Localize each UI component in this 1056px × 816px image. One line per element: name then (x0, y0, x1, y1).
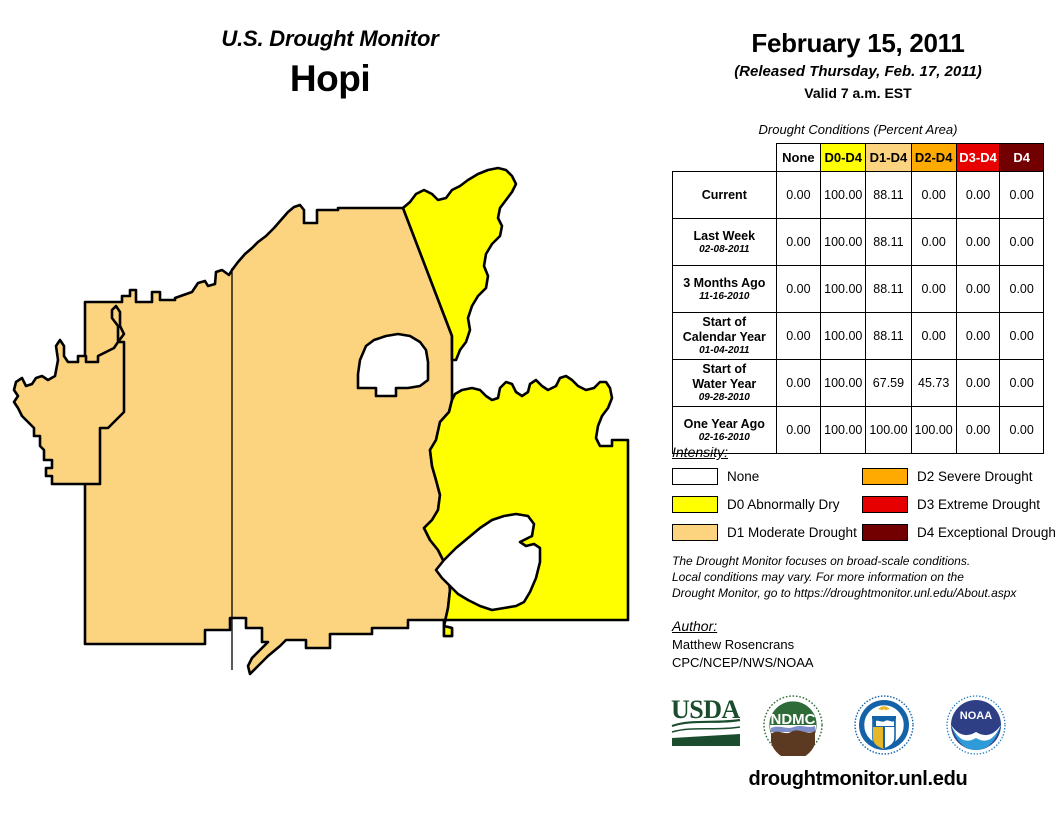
table-cell-value: 100.00 (821, 266, 866, 313)
table-cell-value: 0.00 (1000, 219, 1044, 266)
column-header-d1-d4: D1-D4 (866, 144, 911, 172)
table-cell-value: 0.00 (911, 266, 956, 313)
legend-swatch-d2 (862, 468, 908, 485)
table-cell-value: 0.00 (1000, 266, 1044, 313)
legend-grid: None D0 Abnormally Dry D1 Moderate Droug… (672, 466, 1052, 550)
drought-map[interactable] (0, 150, 660, 750)
author-block: Author: Matthew Rosencrans CPC/NCEP/NWS/… (672, 618, 1052, 670)
map-title-block: U.S. Drought Monitor Hopi (0, 26, 660, 100)
map-panel: U.S. Drought Monitor Hopi (0, 0, 660, 816)
table-row: Start ofWater Year09-28-20100.00100.0067… (673, 360, 1044, 407)
logo-row: USDA NDMC (660, 694, 1056, 760)
area-title: Hopi (0, 58, 660, 100)
legend-label-d4: D4 Exceptional Drought (917, 525, 1056, 540)
table-cell-value: 100.00 (821, 313, 866, 360)
table-head: None D0-D4 D1-D4 D2-D4 D3-D4 D4 (673, 144, 1044, 172)
table-cell-value: 0.00 (956, 360, 1000, 407)
table-cell-value: 0.00 (776, 313, 821, 360)
table-row: Last Week02-08-20110.00100.0088.110.000.… (673, 219, 1044, 266)
table-cell-value: 0.00 (1000, 313, 1044, 360)
column-header-d3-d4: D3-D4 (956, 144, 1000, 172)
table-body: Current0.00100.0088.110.000.000.00Last W… (673, 172, 1044, 454)
legend-label-d0: D0 Abnormally Dry (727, 497, 840, 512)
date-block: February 15, 2011 (Released Thursday, Fe… (660, 28, 1056, 101)
table-row: Start ofCalendar Year01-04-20110.00100.0… (673, 313, 1044, 360)
column-header-none: None (776, 144, 821, 172)
ndmc-logo[interactable]: NDMC (758, 694, 828, 756)
legend-label-d1: D1 Moderate Drought (727, 525, 857, 540)
column-header-d4: D4 (1000, 144, 1044, 172)
table-cell-value: 0.00 (956, 172, 1000, 219)
author-heading: Author: (672, 618, 1052, 634)
drought-conditions-table: None D0-D4 D1-D4 D2-D4 D3-D4 D4 Current0… (672, 143, 1044, 454)
legend-item-d2[interactable]: D2 Severe Drought (862, 466, 1033, 486)
table-cell-value: 0.00 (956, 219, 1000, 266)
row-label: Start ofCalendar Year01-04-2011 (673, 313, 777, 360)
table-cell-value: 0.00 (776, 266, 821, 313)
disclaimer-line-1: The Drought Monitor focuses on broad-sca… (672, 554, 1052, 570)
row-date: 09-28-2010 (677, 392, 772, 404)
site-url[interactable]: droughtmonitor.unl.edu (660, 768, 1056, 791)
svg-text:USDA: USDA (671, 695, 741, 724)
disclaimer-line-2: Local conditions may vary. For more info… (672, 570, 1052, 586)
legend-label-d3: D3 Extreme Drought (917, 497, 1040, 512)
author-affiliation: CPC/NCEP/NWS/NOAA (672, 655, 1052, 670)
legend-item-d0[interactable]: D0 Abnormally Dry (672, 494, 840, 514)
table-row: Current0.00100.0088.110.000.000.00 (673, 172, 1044, 219)
column-header-d0-d4: D0-D4 (821, 144, 866, 172)
legend-item-d4[interactable]: D4 Exceptional Drought (862, 522, 1056, 542)
legend-item-none[interactable]: None (672, 466, 759, 486)
noaa-logo[interactable]: NOAA (944, 694, 1008, 756)
table-cell-value: 88.11 (866, 266, 911, 313)
legend-label-none: None (727, 469, 759, 484)
column-header-d2-d4: D2-D4 (911, 144, 956, 172)
row-label: Start ofWater Year09-28-2010 (673, 360, 777, 407)
legend-swatch-d3 (862, 496, 908, 513)
legend-item-d1[interactable]: D1 Moderate Drought (672, 522, 857, 542)
row-date: 02-16-2010 (677, 432, 772, 444)
release-date: February 15, 2011 (660, 28, 1056, 59)
legend-item-d3[interactable]: D3 Extreme Drought (862, 494, 1040, 514)
program-title: U.S. Drought Monitor (0, 26, 660, 52)
table-cell-value: 0.00 (911, 172, 956, 219)
svg-text:NOAA: NOAA (960, 710, 992, 722)
legend-swatch-d4 (862, 524, 908, 541)
table-cell-value: 88.11 (866, 313, 911, 360)
table-cell-value: 88.11 (866, 172, 911, 219)
table-cell-value: 0.00 (1000, 172, 1044, 219)
disclaimer-line-3: Drought Monitor, go to https://droughtmo… (672, 586, 1052, 602)
department-of-commerce-seal[interactable] (852, 694, 916, 756)
table-cell-value: 0.00 (956, 266, 1000, 313)
table-cell-value: 0.00 (776, 219, 821, 266)
table-cell-value: 100.00 (821, 360, 866, 407)
table-cell-value: 100.00 (821, 219, 866, 266)
legend-swatch-d0 (672, 496, 718, 513)
usda-logo[interactable]: USDA (670, 694, 744, 756)
svg-text:NDMC: NDMC (771, 711, 816, 728)
legend-swatch-none (672, 468, 718, 485)
table-cell-value: 0.00 (911, 219, 956, 266)
row-date: 02-08-2011 (677, 244, 772, 256)
table-cell-value: 0.00 (776, 172, 821, 219)
table-cell-value: 100.00 (821, 172, 866, 219)
row-date: 01-04-2011 (677, 345, 772, 357)
table-header-row: None D0-D4 D1-D4 D2-D4 D3-D4 D4 (673, 144, 1044, 172)
disclaimer: The Drought Monitor focuses on broad-sca… (672, 554, 1052, 601)
navajo-inholding-north[interactable] (358, 334, 428, 396)
table-cell-value: 45.73 (911, 360, 956, 407)
table-cell-value: 0.00 (911, 313, 956, 360)
legend: Intensity: None D0 Abnormally Dry D1 Mod… (672, 444, 1052, 550)
released-note: (Released Thursday, Feb. 17, 2011) (660, 63, 1056, 80)
valid-note: Valid 7 a.m. EST (660, 85, 1056, 101)
table-cell-value: 67.59 (866, 360, 911, 407)
hopi-main-body-d1[interactable] (85, 205, 452, 674)
row-label: Current (673, 172, 777, 219)
info-panel: February 15, 2011 (Released Thursday, Fe… (660, 0, 1056, 816)
legend-label-d2: D2 Severe Drought (917, 469, 1033, 484)
table-corner-cell (673, 144, 777, 172)
legend-heading: Intensity: (672, 444, 1052, 460)
legend-swatch-d1 (672, 524, 718, 541)
row-date: 11-16-2010 (677, 291, 772, 303)
row-label: Last Week02-08-2011 (673, 219, 777, 266)
table-cell-value: 0.00 (1000, 360, 1044, 407)
table-cell-value: 0.00 (776, 360, 821, 407)
table-caption: Drought Conditions (Percent Area) (660, 122, 1056, 137)
row-label: 3 Months Ago11-16-2010 (673, 266, 777, 313)
author-name: Matthew Rosencrans (672, 637, 1052, 652)
table-cell-value: 0.00 (956, 313, 1000, 360)
table-row: 3 Months Ago11-16-20100.00100.0088.110.0… (673, 266, 1044, 313)
table-cell-value: 88.11 (866, 219, 911, 266)
